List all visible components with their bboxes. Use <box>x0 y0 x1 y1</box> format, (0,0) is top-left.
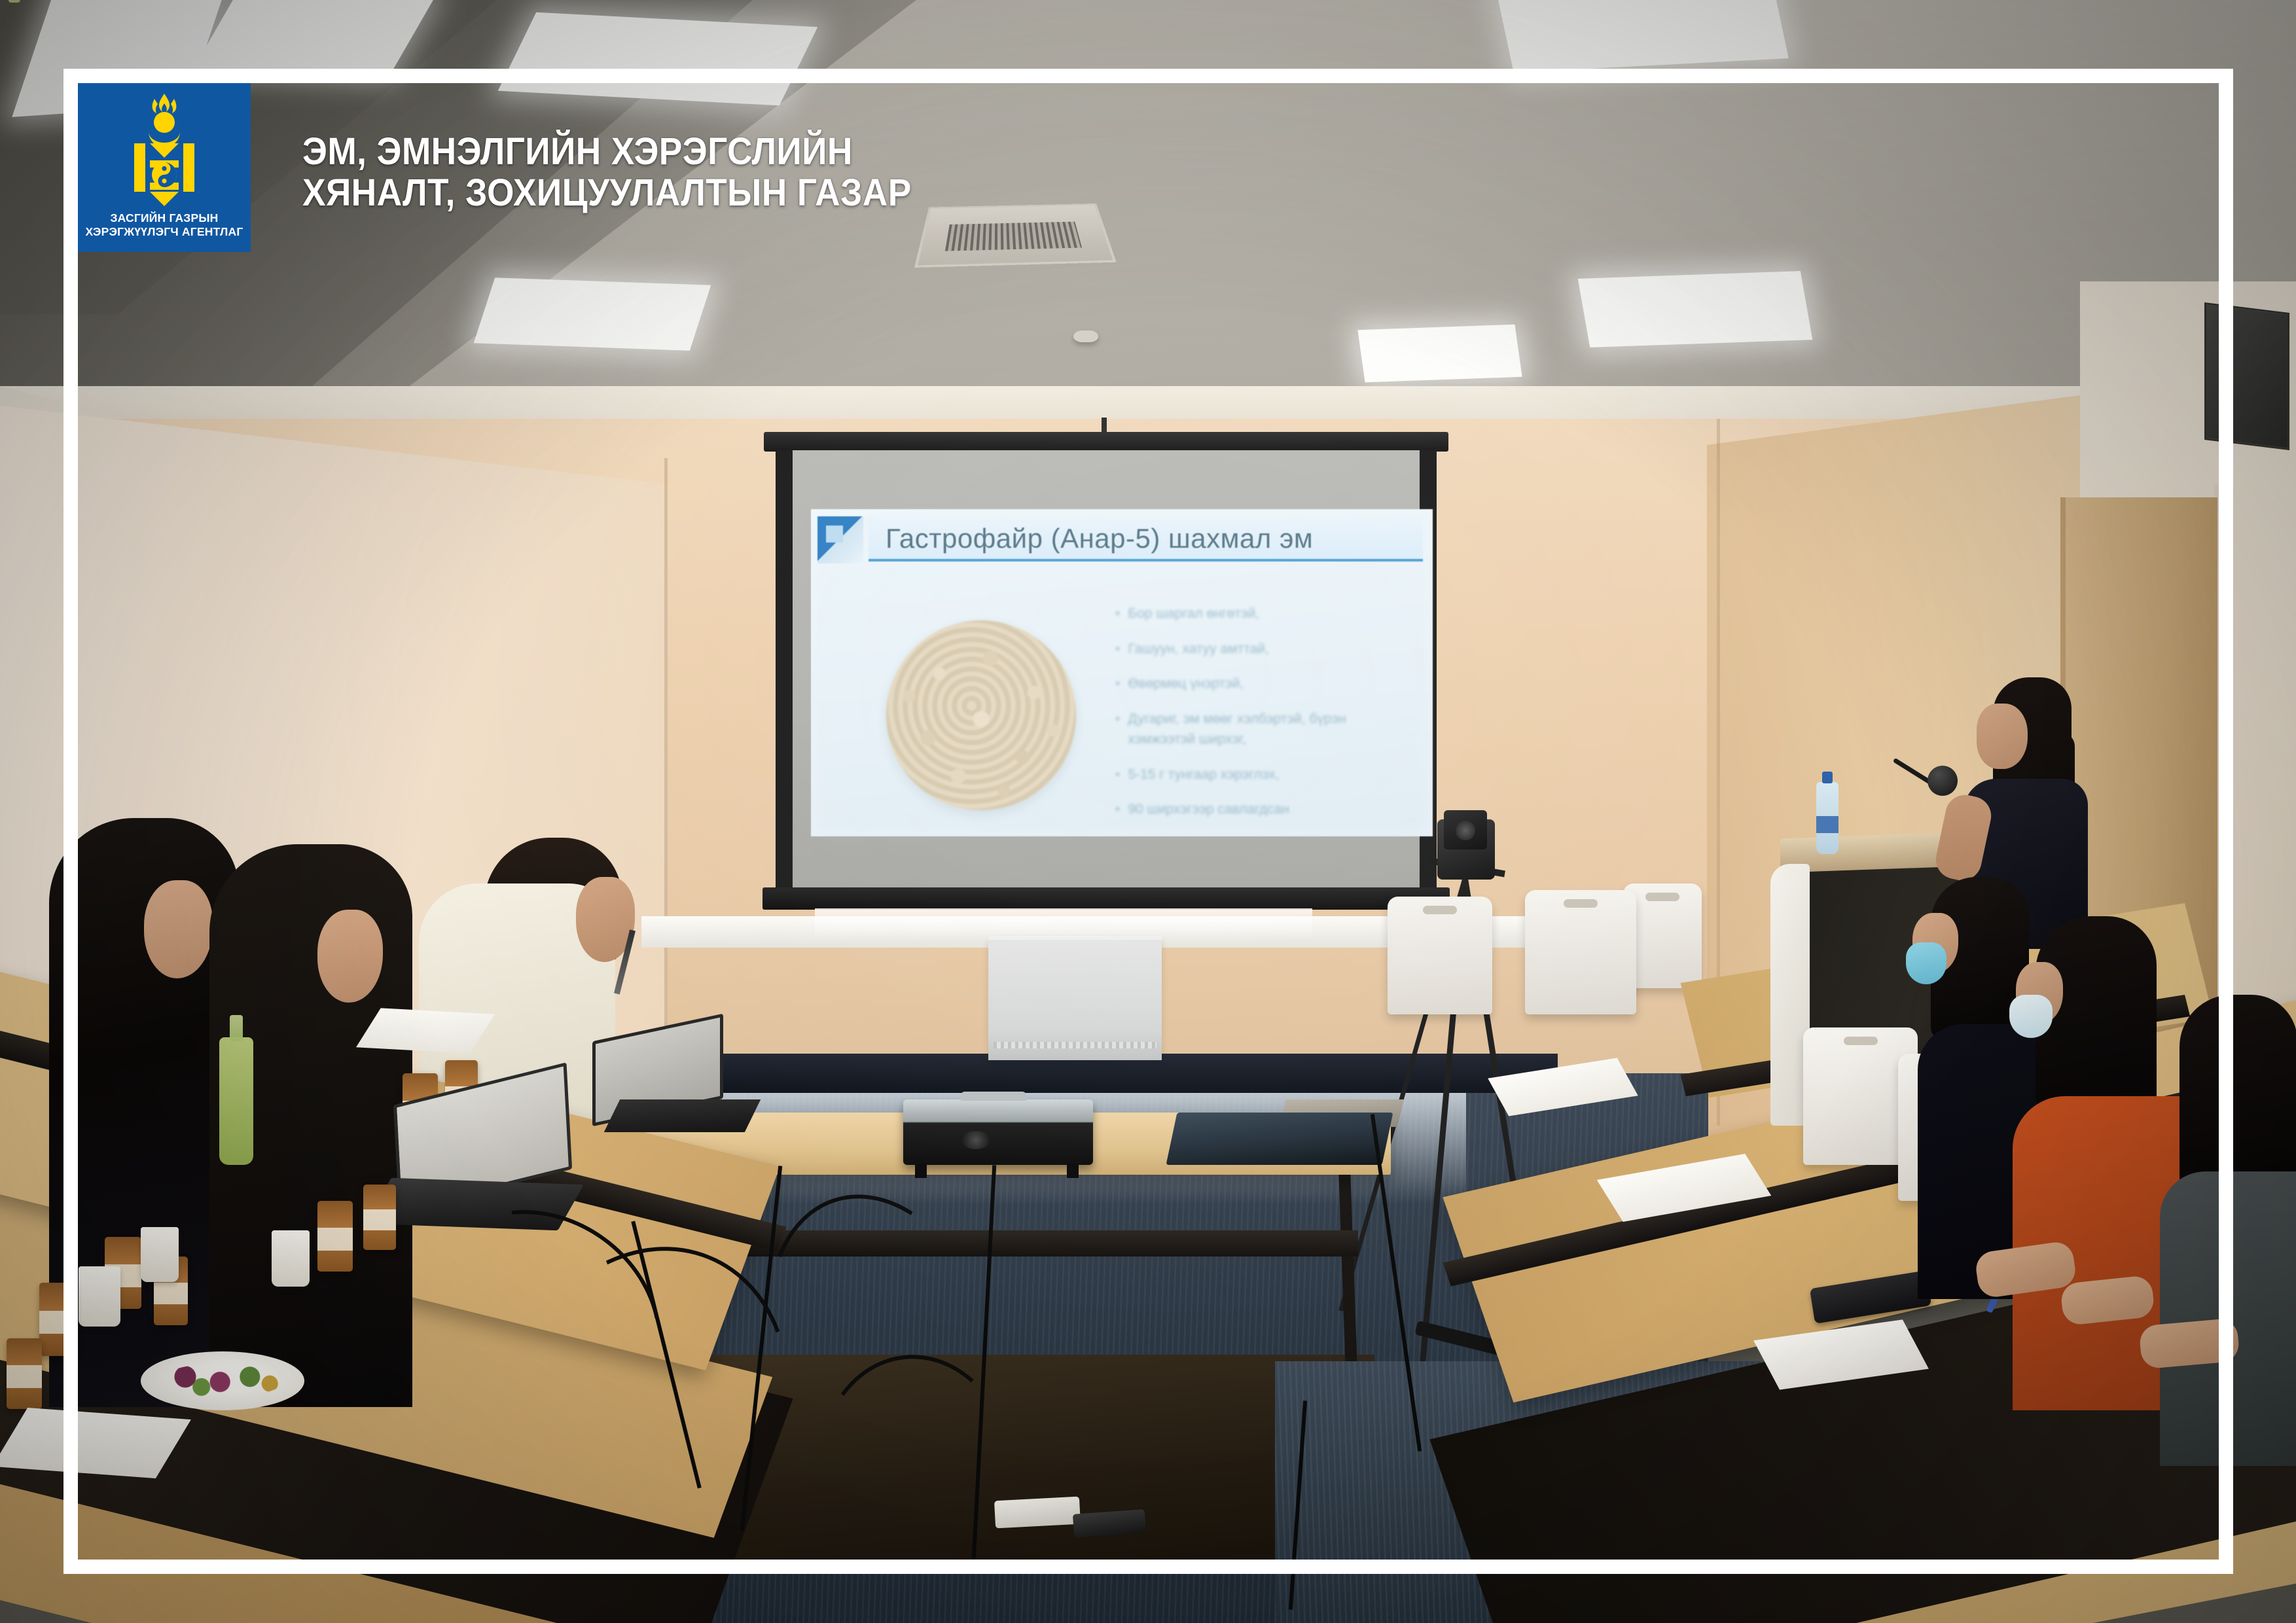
ceiling-light-panel <box>474 277 711 351</box>
list-item: • Гашуун, хатуу амттай, <box>1115 639 1410 660</box>
beverage-bottle <box>219 1037 253 1165</box>
bullet-text: 5-15 г тунгаар хэрэглэх, <box>1128 764 1410 785</box>
paper-cup <box>141 1227 179 1282</box>
pill-granules-image <box>886 620 1076 810</box>
wall-seam <box>664 458 668 1113</box>
list-item: • Бор шаргал өнгөтэй, <box>1115 603 1410 624</box>
slide-header: Гастрофайр (Анар-5) шахмал эм <box>817 514 1423 565</box>
screen-top-bar <box>764 432 1448 452</box>
medicine-jar <box>363 1185 396 1250</box>
face-mask-icon <box>1906 942 1946 984</box>
paper-sheet <box>356 1008 495 1053</box>
projector-lens-icon <box>961 1131 991 1149</box>
attendee-hand <box>2138 1318 2240 1370</box>
bullet-text: Дугариг, эм мөөг хэлбэртэй, бүрэн хэмжээ… <box>1128 709 1410 750</box>
list-item: • 90 ширхэгээр савлагдсан <box>1115 799 1410 820</box>
bullet-marker: • <box>1115 709 1120 730</box>
laptop-keyboard <box>604 1099 761 1132</box>
bullet-marker: • <box>1115 639 1120 660</box>
list-item: • 5-15 г тунгаар хэрэглэх, <box>1115 764 1410 785</box>
radiator <box>988 936 1162 1060</box>
bullet-text: Бор шаргал өнгөтэй, <box>1128 603 1410 624</box>
power-adapter <box>994 1497 1081 1529</box>
agency-name-line-1: ЗАСГИЙН ГАЗРЫН <box>78 211 251 225</box>
screen-hook <box>1102 418 1107 433</box>
bullet-marker: • <box>1115 764 1120 785</box>
projection-screen: Гастрофайр (Анар-5) шахмал эм • Бор шарг… <box>776 432 1437 916</box>
ac-grille-icon <box>945 222 1082 251</box>
soyombo-emblem-icon <box>121 92 207 207</box>
agency-logo-badge: ЗАСГИЙН ГАЗРЫН ХЭРЭГЖҮҮЛЭГЧ АГЕНТЛАГ <box>78 83 251 252</box>
powerpoint-logo-icon <box>817 516 863 563</box>
screen-bottom-glow <box>815 908 1312 940</box>
medicine-jar <box>39 1283 76 1356</box>
organization-title: ЭМ, ЭМНЭЛГИЙН ХЭРЭГСЛИЙН ХЯНАЛТ, ЗОХИЦУУ… <box>302 131 1145 213</box>
bullet-marker: • <box>1115 603 1120 624</box>
presentation-slide: Гастрофайр (Анар-5) шахмал эм • Бор шарг… <box>811 509 1433 836</box>
ceiling-light-panel <box>1578 271 1813 348</box>
power-strip <box>1073 1509 1146 1538</box>
list-item: • Дугариг, эм мөөг хэлбэртэй, бүрэн хэмж… <box>1115 709 1410 750</box>
projector-foot <box>915 1164 927 1178</box>
bullet-marker: • <box>1115 799 1120 820</box>
bullet-text: 90 ширхэгээр савлагдсан <box>1128 799 1410 820</box>
slide-title-bar: Гастрофайр (Анар-5) шахмал эм <box>869 518 1423 562</box>
paper-cup <box>272 1230 310 1287</box>
paper-cup <box>79 1266 120 1327</box>
medicine-jar <box>7 1338 42 1409</box>
bullet-text: Өвөрмөц үнэртэй, <box>1128 673 1410 694</box>
photo-card: Гастрофайр (Анар-5) шахмал эм • Бор шарг… <box>0 0 2296 1623</box>
wall-speaker <box>2204 302 2289 450</box>
medicine-jar <box>317 1201 353 1272</box>
slide-body: • Бор шаргал өнгөтэй, • Гашуун, хатуу ам… <box>824 581 1423 830</box>
slide-bullet-list: • Бор шаргал өнгөтэй, • Гашуун, хатуу ам… <box>1115 603 1410 834</box>
closed-laptop <box>1166 1113 1393 1165</box>
conference-room-photo: Гастрофайр (Анар-5) шахмал эм • Бор шарг… <box>0 0 2296 1623</box>
projector <box>903 1099 1093 1165</box>
food-plate <box>141 1351 304 1410</box>
microphone-icon <box>1928 766 1958 796</box>
white-chair <box>1525 890 1636 1014</box>
screen-bottom-bar <box>762 887 1450 910</box>
list-item: • Өвөрмөц үнэртэй, <box>1115 673 1410 694</box>
slide-title: Гастрофайр (Анар-5) шахмал эм <box>886 523 1313 554</box>
ceiling-light-panel <box>498 12 818 106</box>
water-bottle <box>1816 782 1839 854</box>
ceiling-light-panel <box>1357 325 1522 382</box>
bullet-text: Гашуун, хатуу амттай, <box>1128 639 1410 660</box>
projector-foot <box>1067 1164 1079 1178</box>
attendee-hair <box>2179 995 2296 1191</box>
screen-surface: Гастрофайр (Анар-5) шахмал эм • Бор шарг… <box>776 450 1437 890</box>
agency-name-line-2: ХЭРЭГЖҮҮЛЭГЧ АГЕНТЛАГ <box>78 225 251 239</box>
presenter-face <box>1977 704 2028 769</box>
video-camera-icon <box>1444 810 1487 849</box>
white-chair <box>1388 897 1492 1014</box>
attendee-torso <box>2160 1171 2296 1466</box>
bullet-marker: • <box>1115 673 1120 694</box>
face-mask-icon <box>2009 995 2053 1038</box>
smoke-detector-icon <box>1073 330 1098 342</box>
